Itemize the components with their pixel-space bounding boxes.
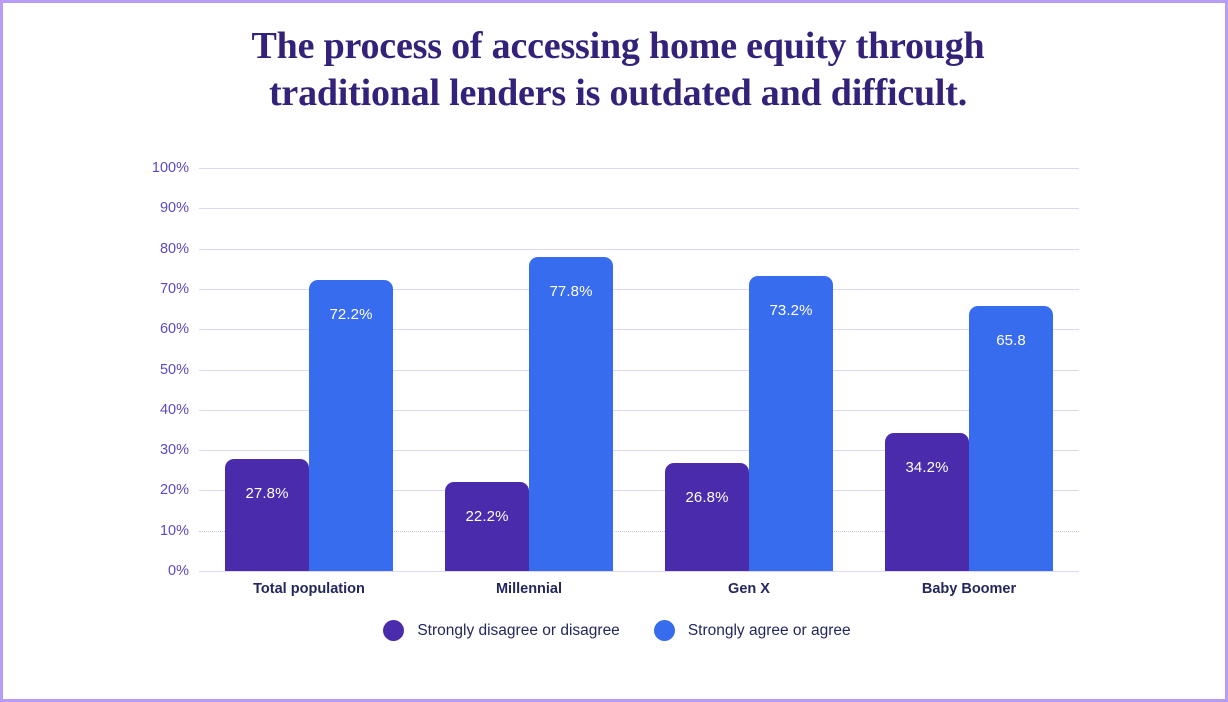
y-axis-tick-label: 0% <box>143 563 189 579</box>
bar[interactable]: 65.8 <box>969 306 1053 571</box>
bar[interactable]: 27.8% <box>225 459 309 571</box>
y-axis: 100%90%80%70%60%50%40%30%20%10%0% <box>143 168 189 571</box>
y-axis-tick-label: 60% <box>143 321 189 337</box>
bar-value-label: 34.2% <box>885 459 969 476</box>
y-axis-tick-label: 90% <box>143 200 189 216</box>
chart-canvas: The process of accessing home equity thr… <box>0 0 1228 702</box>
x-axis-category-label: Total population <box>253 581 365 597</box>
bar-value-label: 77.8% <box>529 283 613 300</box>
bars-layer: 27.8%72.2%22.2%77.8%26.8%73.2%34.2%65.8 <box>199 168 1079 571</box>
chart-title-line-2: traditional lenders is outdated and diff… <box>269 72 967 114</box>
x-axis: Total populationMillennialGen XBaby Boom… <box>199 581 1079 603</box>
y-axis-tick-label: 20% <box>143 482 189 498</box>
legend-swatch-icon <box>654 620 675 641</box>
legend-item[interactable]: Strongly disagree or disagree <box>383 620 619 641</box>
bar[interactable]: 73.2% <box>749 276 833 571</box>
bar[interactable]: 26.8% <box>665 463 749 571</box>
bar-value-label: 26.8% <box>665 489 749 506</box>
y-axis-tick-label: 100% <box>143 160 189 176</box>
legend-swatch-icon <box>383 620 404 641</box>
x-axis-category-label: Gen X <box>728 581 770 597</box>
chart-title: The process of accessing home equity thr… <box>153 23 1083 117</box>
x-axis-category-label: Baby Boomer <box>922 581 1016 597</box>
gridline <box>199 571 1079 572</box>
bar[interactable]: 34.2% <box>885 433 969 571</box>
bar-value-label: 65.8 <box>969 332 1053 349</box>
bar-value-label: 27.8% <box>225 485 309 502</box>
x-axis-category-label: Millennial <box>496 581 562 597</box>
bar[interactable]: 22.2% <box>445 482 529 571</box>
legend-label: Strongly disagree or disagree <box>417 622 619 640</box>
y-axis-tick-label: 10% <box>143 523 189 539</box>
bar-value-label: 22.2% <box>445 508 529 525</box>
y-axis-tick-label: 30% <box>143 442 189 458</box>
bar-value-label: 73.2% <box>749 302 833 319</box>
y-axis-tick-label: 70% <box>143 281 189 297</box>
legend-label: Strongly agree or agree <box>688 622 851 640</box>
chart-title-line-1: The process of accessing home equity thr… <box>252 25 985 67</box>
bar[interactable]: 77.8% <box>529 257 613 571</box>
y-axis-tick-label: 50% <box>143 362 189 378</box>
chart-legend: Strongly disagree or disagreeStrongly ag… <box>3 620 1228 641</box>
bar-value-label: 72.2% <box>309 306 393 323</box>
legend-item[interactable]: Strongly agree or agree <box>654 620 851 641</box>
y-axis-tick-label: 40% <box>143 402 189 418</box>
y-axis-tick-label: 80% <box>143 241 189 257</box>
bar[interactable]: 72.2% <box>309 280 393 571</box>
